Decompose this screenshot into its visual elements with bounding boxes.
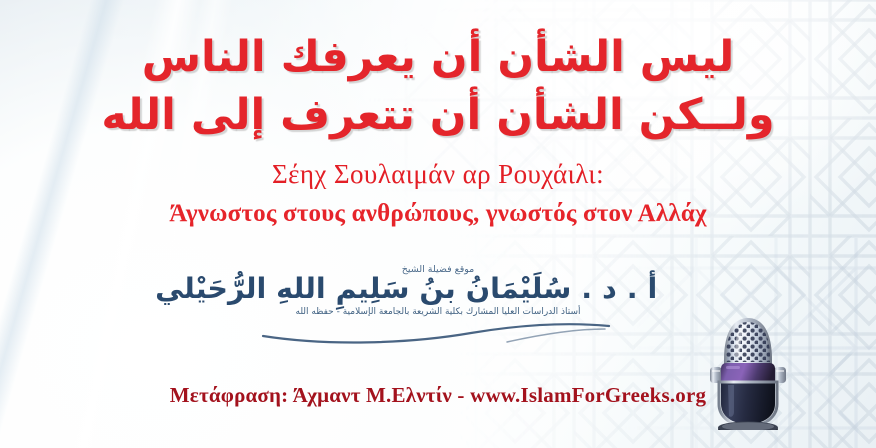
signature-logo: موقع فضيلة الشيخ أ . د . سُلَيْمَانُ بنُ…	[223, 264, 653, 372]
greek-speaker-line: Σέηχ Σουλαιμάν αρ Ρουχάιλι:	[272, 159, 604, 190]
quote-banner: ليس الشأن أن يعرفك الناس ولــكن الشأن أن…	[0, 0, 876, 448]
signature-credentials-text: أستاذ الدراسات العليا المشارك بكلية الشر…	[223, 307, 653, 317]
greek-title-line: Άγνωστος στους ανθρώπους, γνωστός στον Α…	[169, 200, 707, 228]
signature-name-text: أ . د . سُلَيْمَانُ بنُ سَلِيمِ اللهِ ال…	[219, 273, 658, 305]
arabic-quote-line-1: ليس الشأن أن يعرفك الناس	[0, 28, 876, 86]
signature-swash-stroke	[257, 320, 617, 346]
microphone-icon	[702, 312, 794, 430]
credit-line: Μετάφραση: Άχμαντ Μ.Ελντίν - www.IslamFo…	[170, 383, 706, 408]
arabic-quote: ليس الشأن أن يعرفك الناس ولــكن الشأن أن…	[0, 28, 876, 145]
arabic-quote-line-2: ولــكن الشأن أن تتعرف إلى الله	[0, 86, 876, 144]
